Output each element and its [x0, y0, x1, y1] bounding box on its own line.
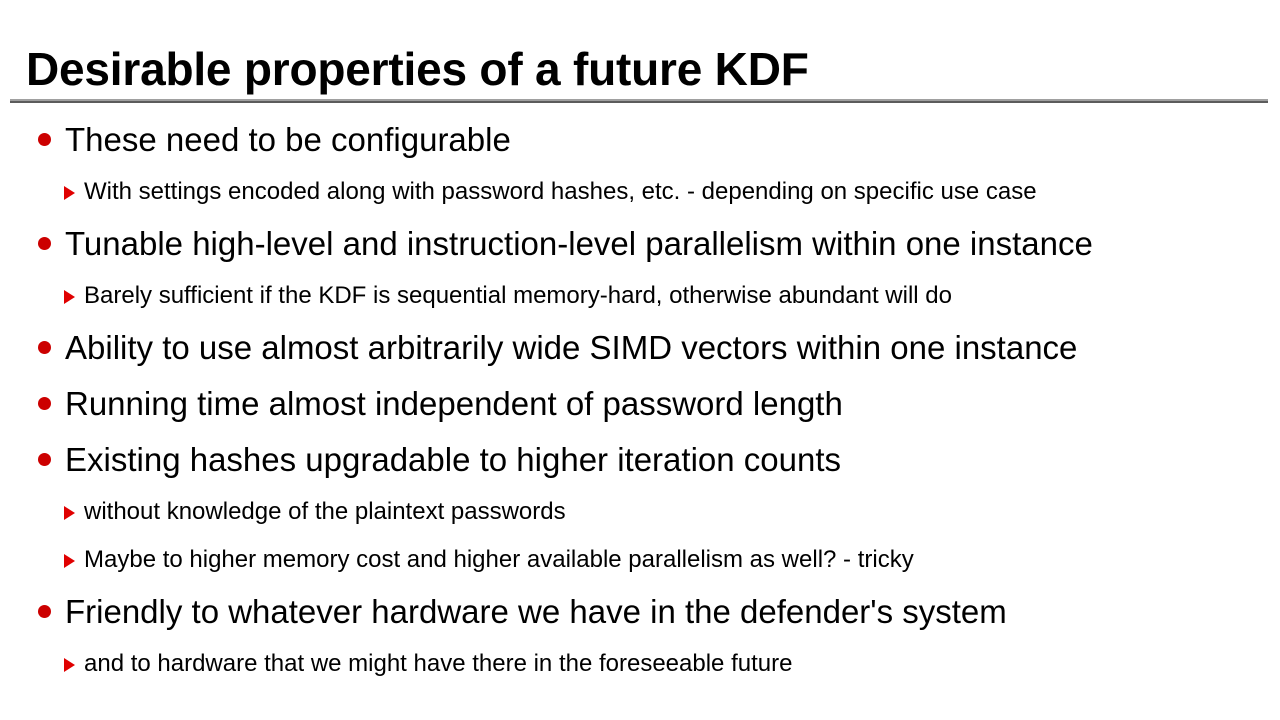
- title-divider-bottom: [10, 101, 1268, 103]
- list-item-label: Tunable high-level and instruction-level…: [65, 222, 1093, 266]
- list-item: Running time almost independent of passw…: [0, 382, 1280, 434]
- list-item-label: Barely sufficient if the KDF is sequenti…: [84, 278, 952, 314]
- red-filled-circle-bullet-icon: [38, 453, 51, 466]
- red-filled-circle-bullet-icon: [38, 605, 51, 618]
- list-item: Barely sufficient if the KDF is sequenti…: [0, 278, 1280, 324]
- list-item: and to hardware that we might have there…: [0, 646, 1280, 692]
- red-triangle-bullet-icon: [64, 506, 75, 520]
- list-item: Maybe to higher memory cost and higher a…: [0, 542, 1280, 588]
- red-filled-circle-bullet-icon: [38, 133, 51, 146]
- page-title: Desirable properties of a future KDF: [26, 40, 809, 98]
- list-item: Ability to use almost arbitrarily wide S…: [0, 326, 1280, 378]
- list-item: Friendly to whatever hardware we have in…: [0, 590, 1280, 642]
- list-item-label: Ability to use almost arbitrarily wide S…: [65, 326, 1077, 370]
- list-item: These need to be configurable: [0, 118, 1280, 170]
- list-item-label: without knowledge of the plaintext passw…: [84, 494, 566, 530]
- red-filled-circle-bullet-icon: [38, 237, 51, 250]
- list-item-label: and to hardware that we might have there…: [84, 646, 792, 682]
- list-item-label: Running time almost independent of passw…: [65, 382, 843, 426]
- red-filled-circle-bullet-icon: [38, 397, 51, 410]
- red-triangle-bullet-icon: [64, 290, 75, 304]
- title-divider: [10, 99, 1268, 103]
- list-item-label: These need to be configurable: [65, 118, 511, 162]
- list-item-label: Existing hashes upgradable to higher ite…: [65, 438, 841, 482]
- list-item-label: Friendly to whatever hardware we have in…: [65, 590, 1007, 634]
- list-item: Tunable high-level and instruction-level…: [0, 222, 1280, 274]
- list-item: without knowledge of the plaintext passw…: [0, 494, 1280, 540]
- list-item: With settings encoded along with passwor…: [0, 174, 1280, 220]
- list-item-label: With settings encoded along with passwor…: [84, 174, 1037, 210]
- red-triangle-bullet-icon: [64, 658, 75, 672]
- slide-title-area: Desirable properties of a future KDF: [0, 0, 1280, 108]
- red-triangle-bullet-icon: [64, 554, 75, 568]
- list-item: Existing hashes upgradable to higher ite…: [0, 438, 1280, 490]
- red-filled-circle-bullet-icon: [38, 341, 51, 354]
- list-item-label: Maybe to higher memory cost and higher a…: [84, 542, 914, 578]
- slide-canvas: Desirable properties of a future KDF The…: [0, 0, 1280, 720]
- red-triangle-bullet-icon: [64, 186, 75, 200]
- slide-body: These need to be configurable With setti…: [0, 118, 1280, 692]
